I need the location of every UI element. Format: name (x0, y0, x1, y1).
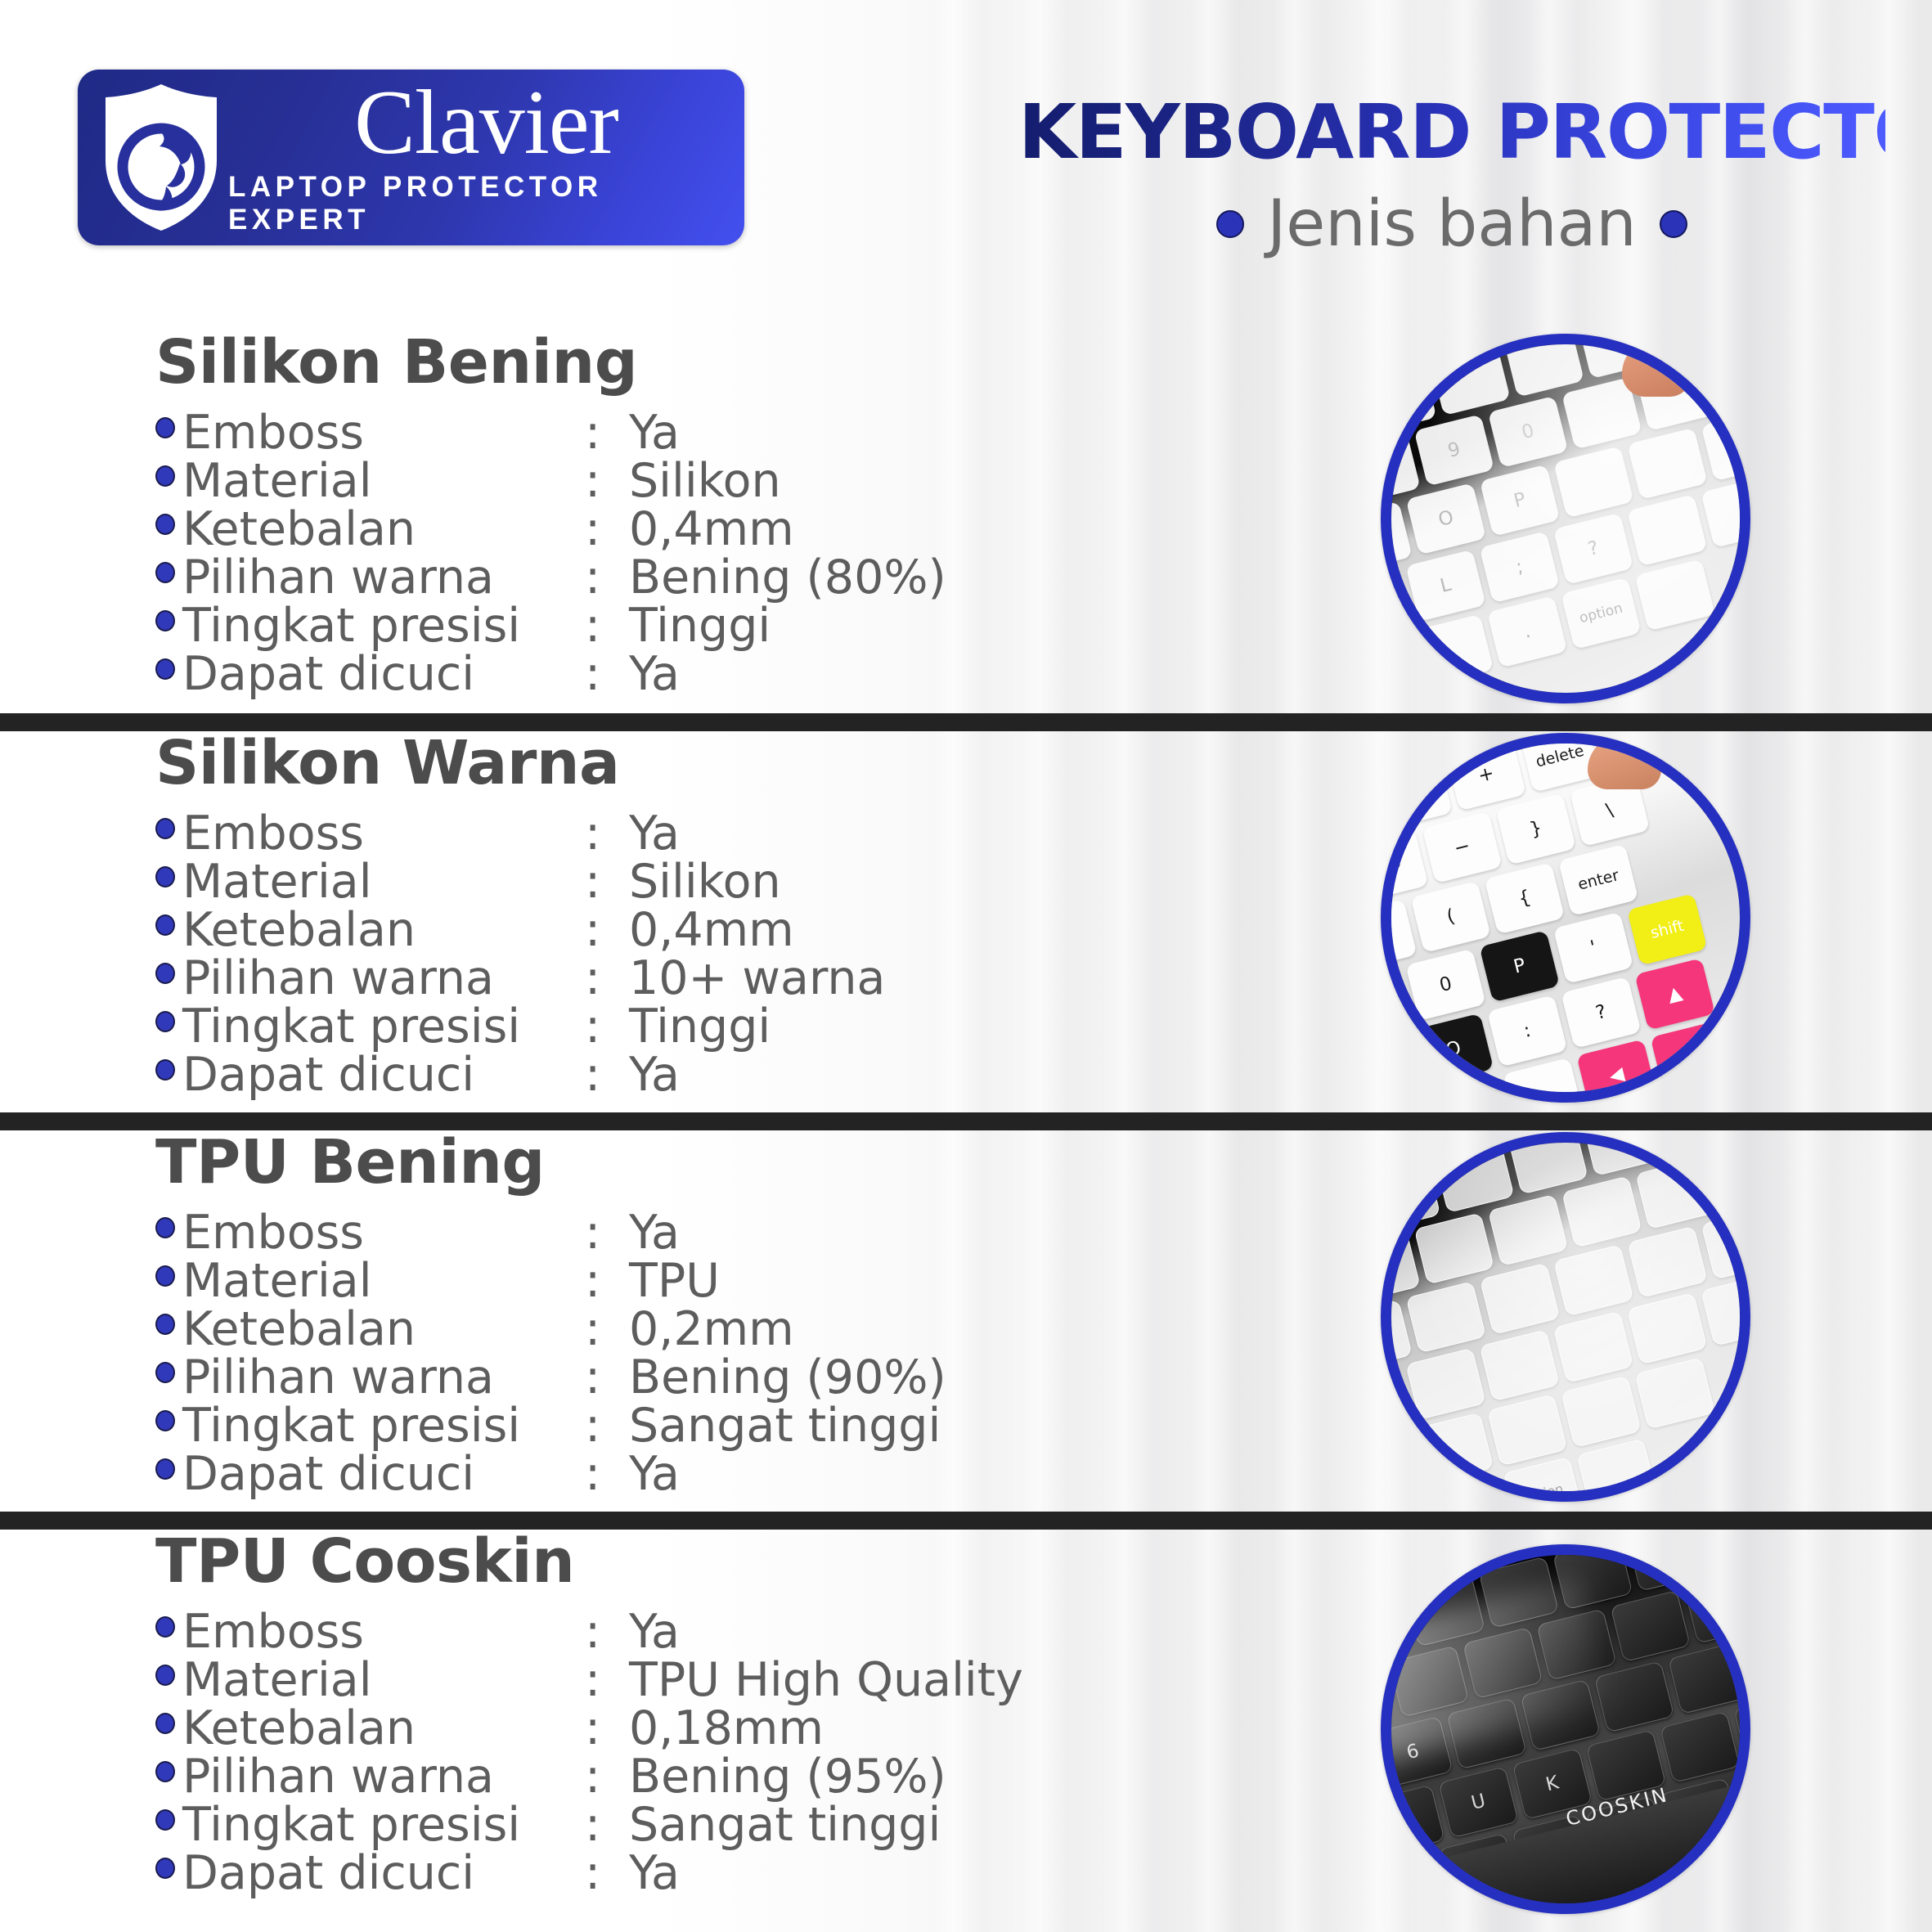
brand-logo-text: Clavier LAPTOP PROTECTOR EXPERT (228, 79, 744, 237)
product-photo-tpu-cooskin: 6 YUK THJMAlt FGBN V COOSKI (1381, 1544, 1750, 1914)
spec-row-tingkat-presisi: Tingkat presisi : Tinggi (155, 599, 1170, 647)
spec-value: TPU High Quality (629, 1653, 1023, 1707)
bullet-icon (155, 1761, 175, 1782)
bullet-icon (155, 963, 175, 984)
spec-value: Ya (629, 647, 680, 701)
product-photo-silikon-warna: F12⏻ F11+delete F10−}\ F9({enter 90P'shi… (1381, 733, 1750, 1103)
spec-row-material: Material : Silikon (155, 855, 1170, 903)
product-photo-tpu-bening: K <cmdoption (1381, 1132, 1750, 1502)
spec-row-emboss: Emboss : Ya (155, 1605, 1170, 1653)
brand-logo-card: Clavier LAPTOP PROTECTOR EXPERT (78, 70, 744, 245)
page-subtitle: Jenis bahan (1267, 187, 1637, 261)
spec-row-ketebalan: Ketebalan : 0,4mm (155, 502, 1170, 550)
spec-value: Bening (95%) (629, 1750, 946, 1804)
bullet-icon (155, 658, 175, 680)
section-1-specs: Silikon Bening Emboss : Ya Material : Si… (155, 327, 1170, 695)
spec-row-pilihan-warna: Pilihan warna : Bening (90%) (155, 1350, 1170, 1399)
bullet-icon (155, 1059, 175, 1081)
finger-lifting-cover (1588, 744, 1661, 789)
finger-lifting-cover (1622, 344, 1692, 397)
section-3-specs: TPU Bening Emboss : Ya Material : TPU Ke… (155, 1127, 1170, 1495)
section-3-title: TPU Bening (155, 1127, 1170, 1197)
infographic-page: Clavier LAPTOP PROTECTOR EXPERT KEYBOARD… (0, 0, 1932, 1932)
spec-row-pilihan-warna: Pilihan warna : Bening (80%) (155, 550, 1170, 599)
bullet-icon (155, 1265, 175, 1287)
page-title: KEYBOARD PROTECTOR (1018, 88, 1885, 176)
spec-label: Dapat dicuci (182, 1447, 585, 1501)
header-title-block: KEYBOARD PROTECTOR Jenis bahan (1018, 88, 1885, 261)
spec-value: Ya (629, 1206, 680, 1260)
spec-colon: : (585, 1048, 629, 1102)
bullet-icon (155, 514, 175, 535)
spec-label: Dapat dicuci (182, 1846, 585, 1900)
spec-row-material: Material : TPU High Quality (155, 1653, 1170, 1701)
spec-value: Sangat tinggi (629, 1798, 941, 1852)
section-4-title: TPU Cooskin (155, 1526, 1170, 1597)
spec-label: Material (182, 855, 585, 909)
bullet-icon (155, 1713, 175, 1734)
spec-label: Ketebalan (182, 1302, 585, 1356)
spec-colon: : (585, 951, 629, 1005)
brand-name: Clavier (354, 79, 618, 168)
spec-value: Bening (90%) (629, 1350, 946, 1404)
spec-label: Tingkat presisi (182, 1000, 585, 1054)
spec-label: Dapat dicuci (182, 647, 585, 701)
spec-value: Ya (629, 1447, 680, 1501)
spec-colon: : (585, 1254, 629, 1308)
spec-value: Silikon (629, 855, 781, 909)
spec-value: Ya (629, 1048, 680, 1102)
spec-row-emboss: Emboss : Ya (155, 806, 1170, 855)
spec-colon: : (585, 599, 629, 653)
spec-row-ketebalan: Ketebalan : 0,4mm (155, 903, 1170, 951)
bullet-icon (155, 562, 175, 583)
spec-colon: : (585, 806, 629, 860)
spec-label: Ketebalan (182, 502, 585, 556)
spec-colon: : (585, 550, 629, 604)
spec-value: Ya (629, 1846, 680, 1900)
spec-value: Tinggi (629, 599, 771, 653)
spec-value: Silikon (629, 454, 781, 508)
spec-value: 0,18mm (629, 1701, 824, 1755)
section-silikon-warna: Silikon Warna Emboss : Ya Material : Sil… (0, 728, 1932, 1112)
spec-row-dapat-dicuci: Dapat dicuci : Ya (155, 1846, 1170, 1894)
section-2-title: Silikon Warna (155, 728, 1170, 798)
bullet-icon (155, 1314, 175, 1335)
spec-label: Material (182, 1254, 585, 1308)
spec-colon: : (585, 1701, 629, 1755)
spec-label: Pilihan warna (182, 1750, 585, 1804)
section-silikon-bening: Silikon Bening Emboss : Ya Material : Si… (0, 327, 1932, 713)
section-4-specs: TPU Cooskin Emboss : Ya Material : TPU H… (155, 1526, 1170, 1894)
spec-label: Ketebalan (182, 903, 585, 957)
bullet-icon (155, 610, 175, 631)
spec-colon: : (585, 903, 629, 957)
bullet-icon (155, 1362, 175, 1383)
spec-label: Emboss (182, 406, 585, 460)
spec-colon: : (585, 1846, 629, 1900)
bullet-icon (155, 818, 175, 839)
spec-value: Sangat tinggi (629, 1399, 941, 1453)
spec-label: Emboss (182, 1206, 585, 1260)
bullet-icon (155, 1410, 175, 1431)
spec-value: Bening (80%) (629, 550, 946, 604)
bullet-icon (155, 866, 175, 887)
spec-value: 0,4mm (629, 502, 794, 556)
spec-label: Emboss (182, 806, 585, 860)
spec-colon: : (585, 1206, 629, 1260)
subtitle-dot-left-icon (1216, 210, 1244, 238)
spec-label: Tingkat presisi (182, 1399, 585, 1453)
section-tpu-bening: TPU Bening Emboss : Ya Material : TPU Ke… (0, 1127, 1932, 1512)
spec-row-tingkat-presisi: Tingkat presisi : Tinggi (155, 1000, 1170, 1048)
spec-value: Ya (629, 1605, 680, 1659)
spec-value: Ya (629, 806, 680, 860)
spec-colon: : (585, 406, 629, 460)
spec-colon: : (585, 1000, 629, 1054)
product-photo-silikon-bening: 90 IOP KL;? <,.option (1381, 334, 1750, 703)
spec-label: Ketebalan (182, 1701, 585, 1755)
spec-value: 0,2mm (629, 1302, 794, 1356)
bullet-icon (155, 914, 175, 936)
spec-row-emboss: Emboss : Ya (155, 406, 1170, 454)
spec-label: Tingkat presisi (182, 599, 585, 653)
brand-tagline: LAPTOP PROTECTOR EXPERT (228, 171, 744, 236)
shield-dragon-icon (99, 82, 223, 233)
spec-row-ketebalan: Ketebalan : 0,18mm (155, 1701, 1170, 1750)
bullet-icon (155, 465, 175, 487)
spec-colon: : (585, 1605, 629, 1659)
spec-row-pilihan-warna: Pilihan warna : 10+ warna (155, 951, 1170, 1000)
bullet-icon (155, 417, 175, 438)
spec-value: 10+ warna (629, 951, 885, 1005)
spec-label: Emboss (182, 1605, 585, 1659)
section-1-title: Silikon Bening (155, 327, 1170, 398)
spec-label: Pilihan warna (182, 1350, 585, 1404)
spec-value: Ya (629, 406, 680, 460)
spec-row-emboss: Emboss : Ya (155, 1206, 1170, 1254)
header: Clavier LAPTOP PROTECTOR EXPERT KEYBOARD… (0, 0, 1932, 294)
spec-label: Dapat dicuci (182, 1048, 585, 1102)
spec-label: Material (182, 1653, 585, 1707)
spec-colon: : (585, 855, 629, 909)
spec-colon: : (585, 1653, 629, 1707)
spec-colon: : (585, 1798, 629, 1852)
section-tpu-cooskin: TPU Cooskin Emboss : Ya Material : TPU H… (0, 1526, 1932, 1932)
spec-label: Pilihan warna (182, 951, 585, 1005)
bullet-icon (155, 1809, 175, 1831)
spec-colon: : (585, 1750, 629, 1804)
bullet-icon (155, 1217, 175, 1238)
spec-colon: : (585, 1399, 629, 1453)
spec-row-dapat-dicuci: Dapat dicuci : Ya (155, 647, 1170, 695)
spec-label: Material (182, 454, 585, 508)
spec-colon: : (585, 647, 629, 701)
section-2-specs: Silikon Warna Emboss : Ya Material : Sil… (155, 728, 1170, 1096)
spec-row-tingkat-presisi: Tingkat presisi : Sangat tinggi (155, 1798, 1170, 1846)
page-subtitle-row: Jenis bahan (1018, 187, 1885, 261)
spec-row-pilihan-warna: Pilihan warna : Bening (95%) (155, 1750, 1170, 1798)
spec-value: 0,4mm (629, 903, 794, 957)
spec-colon: : (585, 454, 629, 508)
bullet-icon (155, 1858, 175, 1879)
spec-label: Pilihan warna (182, 550, 585, 604)
spec-value: TPU (629, 1254, 720, 1308)
spec-colon: : (585, 1350, 629, 1404)
bullet-icon (155, 1616, 175, 1638)
spec-row-material: Material : Silikon (155, 454, 1170, 502)
subtitle-dot-right-icon (1660, 210, 1687, 238)
bullet-icon (155, 1011, 175, 1032)
bullet-icon (155, 1665, 175, 1686)
spec-label: Tingkat presisi (182, 1798, 585, 1852)
spec-colon: : (585, 1302, 629, 1356)
bullet-icon (155, 1458, 175, 1480)
spec-value: Tinggi (629, 1000, 771, 1054)
spec-row-material: Material : TPU (155, 1254, 1170, 1302)
spec-colon: : (585, 502, 629, 556)
spec-row-dapat-dicuci: Dapat dicuci : Ya (155, 1048, 1170, 1096)
spec-row-tingkat-presisi: Tingkat presisi : Sangat tinggi (155, 1399, 1170, 1447)
spec-colon: : (585, 1447, 629, 1501)
spec-row-dapat-dicuci: Dapat dicuci : Ya (155, 1447, 1170, 1495)
spec-row-ketebalan: Ketebalan : 0,2mm (155, 1302, 1170, 1350)
